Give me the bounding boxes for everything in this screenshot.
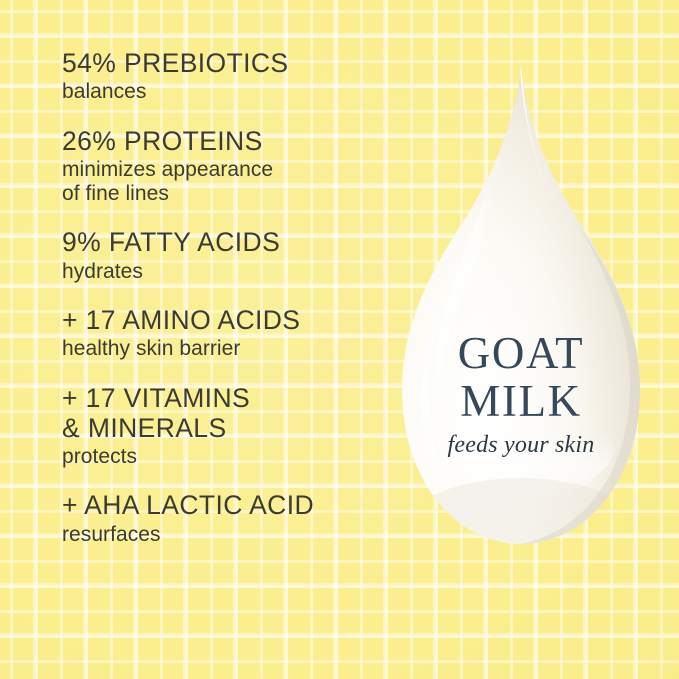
benefit-title: + 17 VITAMINS & MINERALS xyxy=(62,383,392,443)
benefit-description: minimizes appearance of fine lines xyxy=(62,158,392,207)
benefit-description: protects xyxy=(62,445,392,469)
benefit-title: 54% PREBIOTICS xyxy=(62,48,392,78)
benefit-item: + 17 AMINO ACIDS healthy skin barrier xyxy=(62,305,392,362)
benefit-title: + 17 AMINO ACIDS xyxy=(62,305,392,335)
ingredient-infographic: 54% PREBIOTICS balances 26% PROTEINS min… xyxy=(0,0,679,679)
benefit-item: 9% FATTY ACIDS hydrates xyxy=(62,227,392,284)
benefit-title: 26% PROTEINS xyxy=(62,126,392,156)
benefit-item: 54% PREBIOTICS balances xyxy=(62,48,392,105)
benefits-list: 54% PREBIOTICS balances 26% PROTEINS min… xyxy=(62,48,392,547)
benefit-title: 9% FATTY ACIDS xyxy=(62,227,392,257)
benefit-title: + AHA LACTIC ACID xyxy=(62,490,392,520)
benefit-description: healthy skin barrier xyxy=(62,337,392,361)
benefit-description: resurfaces xyxy=(62,523,392,547)
benefit-item: + AHA LACTIC ACID resurfaces xyxy=(62,490,392,547)
milk-droplet-icon xyxy=(396,60,646,552)
benefit-description: balances xyxy=(62,80,392,104)
benefit-item: 26% PROTEINS minimizes appearance of fin… xyxy=(62,126,392,207)
benefit-description: hydrates xyxy=(62,260,392,284)
benefit-item: + 17 VITAMINS & MINERALS protects xyxy=(62,383,392,470)
